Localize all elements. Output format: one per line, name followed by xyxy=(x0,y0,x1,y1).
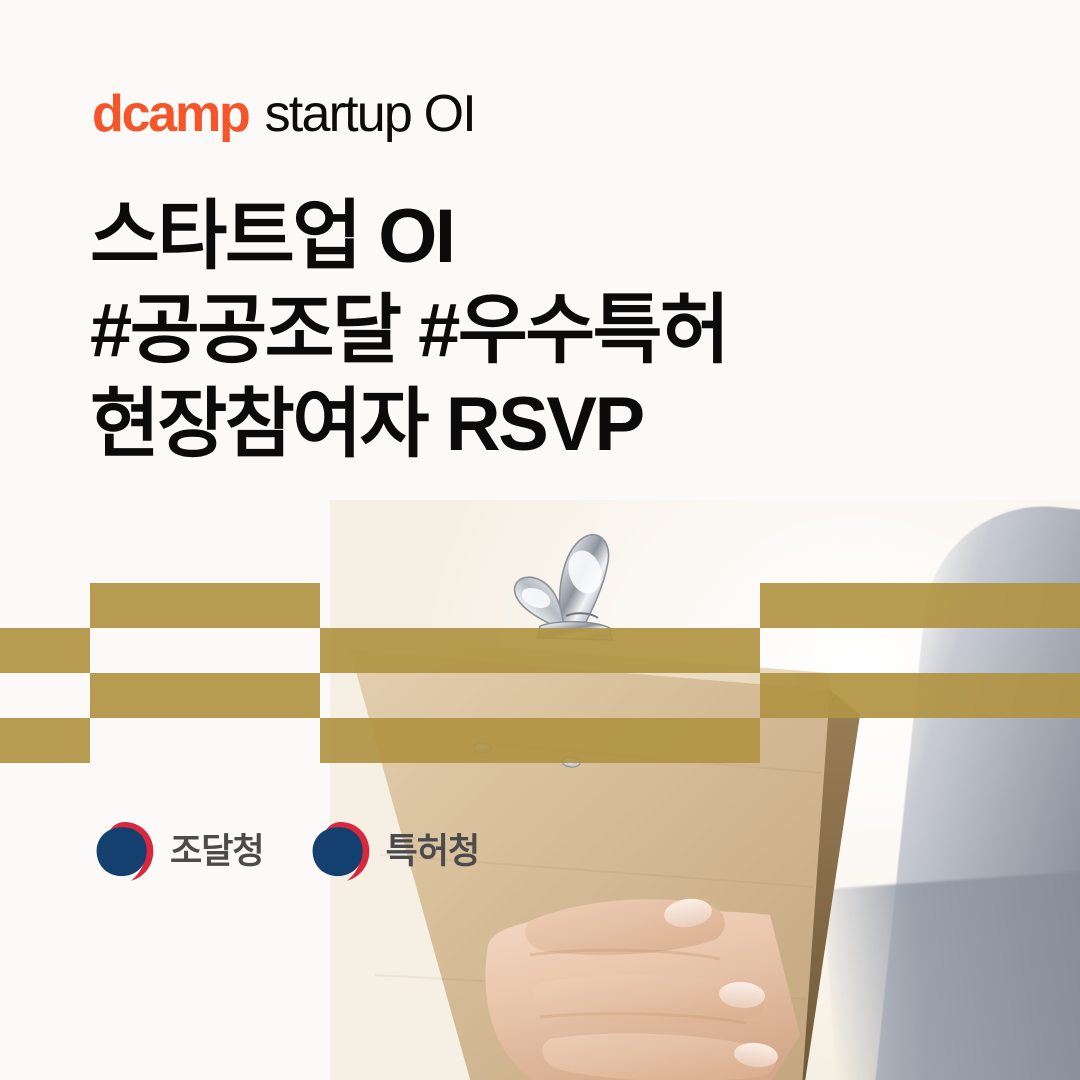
promo-poster: dcamp startup OI 스타트업 OI #공공조달 #우수특허 현장참… xyxy=(0,0,1080,1080)
brand-name: startup OI xyxy=(265,88,475,140)
partner-label: 특허청 xyxy=(386,834,480,869)
photo-layer xyxy=(0,0,1080,1080)
partner-logo-patent: 특허청 xyxy=(306,818,480,884)
hand xyxy=(470,855,890,1080)
partner-logo-procurement: 조달청 xyxy=(90,818,264,884)
brand-logo: dcamp startup OI xyxy=(92,88,475,140)
page-title: 스타트업 OI #공공조달 #우수특허 현장참여자 RSVP xyxy=(90,190,728,473)
brand-mark: dcamp xyxy=(92,88,249,140)
headline-line-2: #공공조달 #우수특허 xyxy=(90,284,728,378)
headline-line-1: 스타트업 OI xyxy=(90,190,728,284)
korea-government-taegeuk-emblem-icon xyxy=(306,818,372,884)
partner-logos: 조달청 특허청 xyxy=(90,818,479,884)
headline-line-3: 현장참여자 RSVP xyxy=(90,378,728,472)
korea-government-taegeuk-emblem-icon xyxy=(90,818,156,884)
partner-label: 조달청 xyxy=(170,834,264,869)
